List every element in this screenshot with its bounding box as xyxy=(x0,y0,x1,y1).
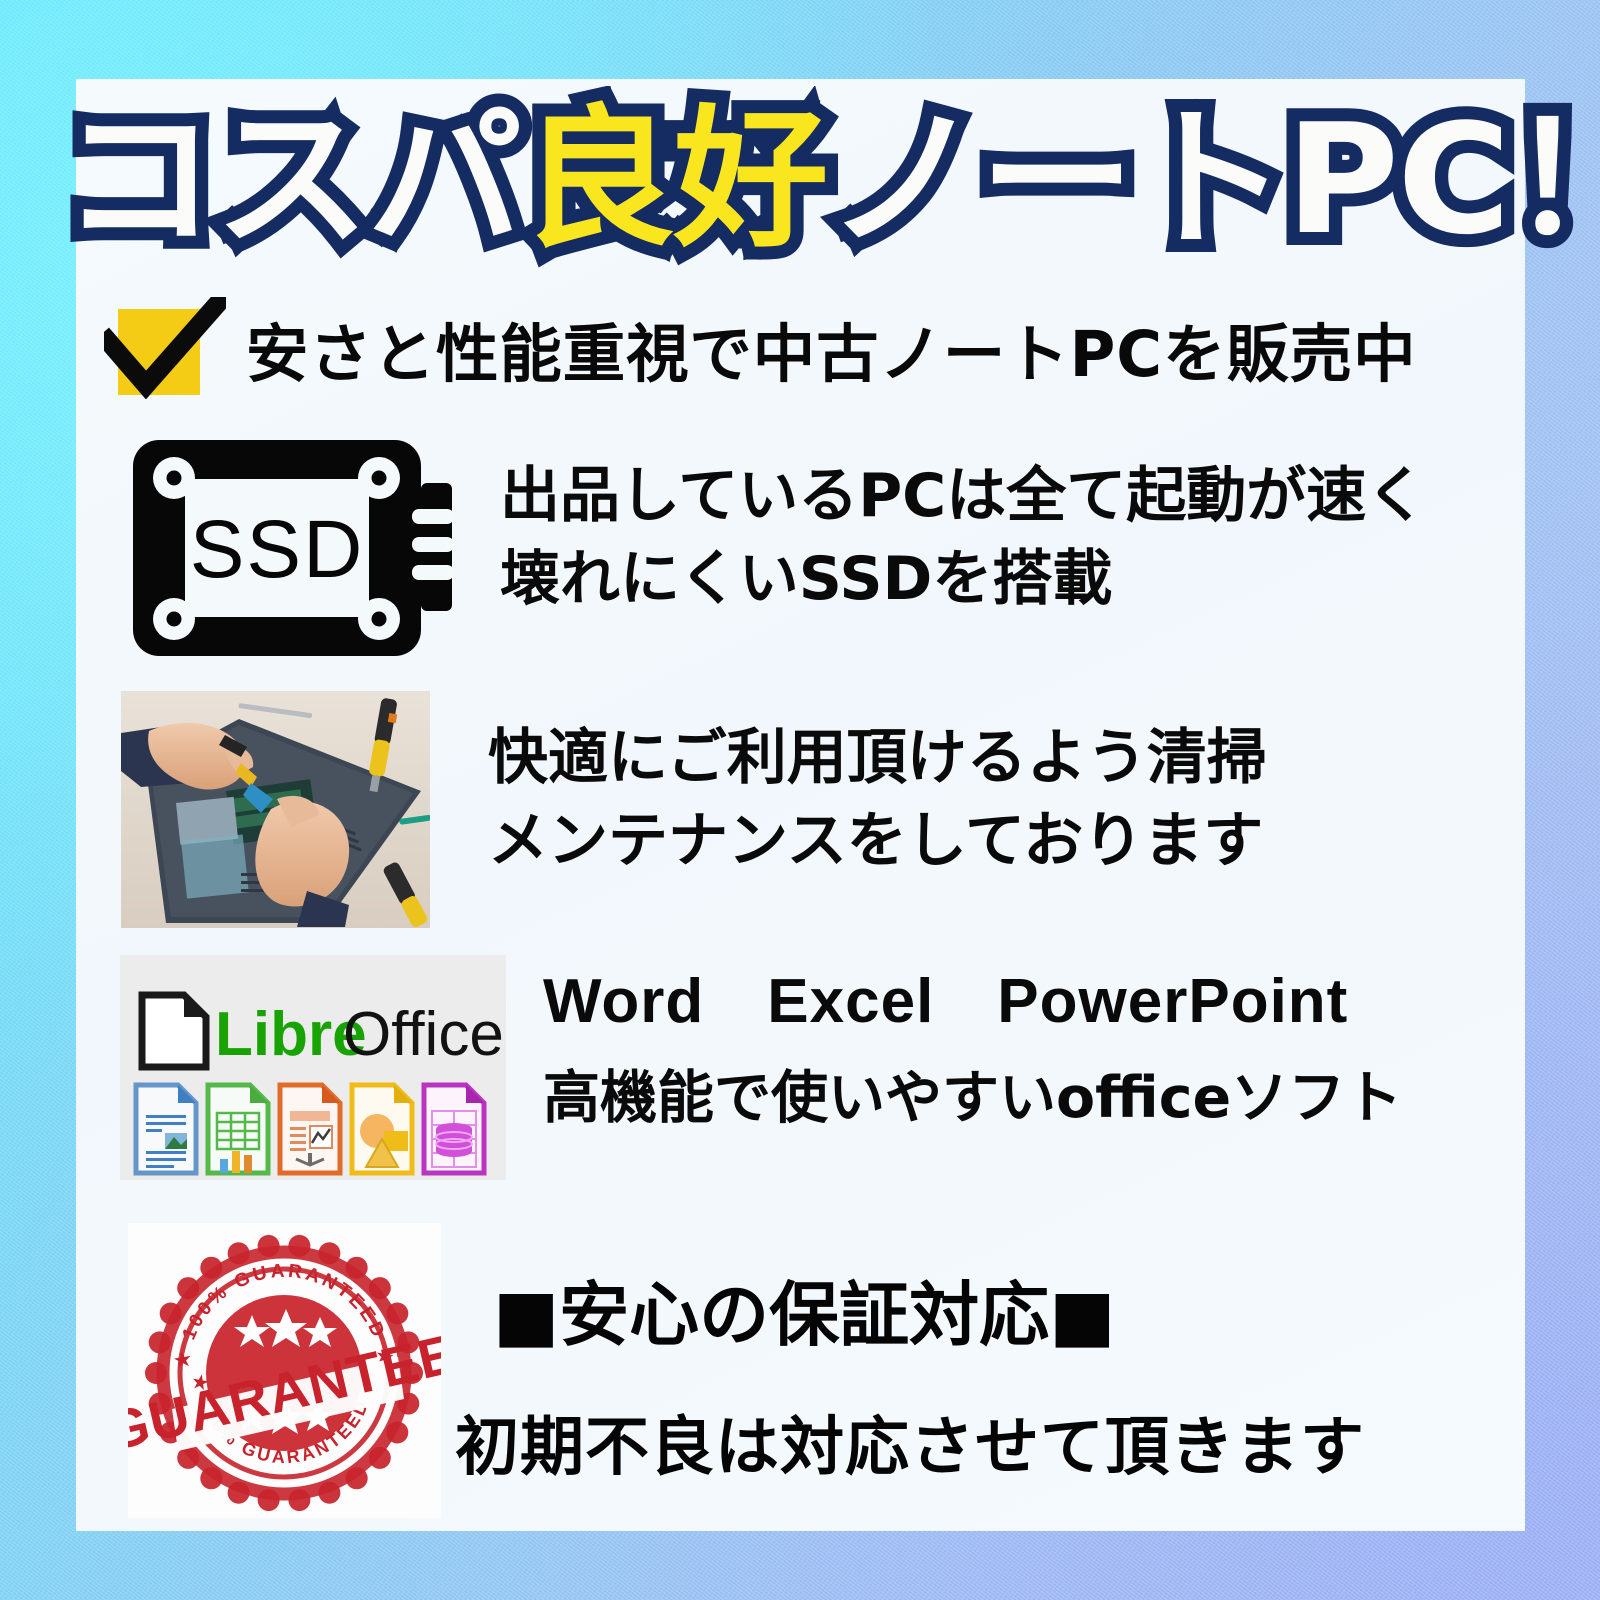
guarantee-stamp: ★ 100% GUARANTEED ★ ★ 100% GUARANTEED ★ … xyxy=(128,1223,441,1518)
yellow-check-icon xyxy=(104,301,226,397)
ssd-text-line1: 出品しているPCは全て起動が速く xyxy=(500,455,1426,538)
page-title: コスパ良好ノートPC！ xyxy=(62,93,1540,268)
feature-row-ssd: SSD 出品しているPCは全て起動が速く 壊れにくいSSDを搭載 xyxy=(130,435,1530,659)
title-segment-3: ノートPC！ xyxy=(827,91,1600,268)
feature-row-sales: 安さと性能重視で中古ノートPCを販売中 xyxy=(104,301,1504,397)
office-apps-line: Word Excel PowerPoint xyxy=(543,963,1402,1041)
libreoffice-logo: Libre Office xyxy=(120,955,506,1180)
title-segment-1: コスパ xyxy=(62,91,521,268)
ssd-icon-label: SSD xyxy=(190,504,365,595)
ssd-drive-icon: SSD xyxy=(130,437,455,659)
office-text: Word Excel PowerPoint 高機能で使いやすいofficeソフト xyxy=(543,963,1402,1135)
feature-row-office: Libre Office xyxy=(120,951,1520,1180)
ssd-text: 出品しているPCは全て起動が速く 壊れにくいSSDを搭載 xyxy=(500,455,1426,621)
feature-row-guarantee: ★ 100% GUARANTEED ★ ★ 100% GUARANTEED ★ … xyxy=(128,1219,1528,1518)
guarantee-text: ■安心の保証対応■ 初期不良は対応させて頂きます xyxy=(493,1259,1365,1488)
office-word: Office xyxy=(343,1000,504,1069)
laptop-repair-photo xyxy=(121,691,430,928)
ssd-text-line2: 壊れにくいSSDを搭載 xyxy=(500,538,1426,621)
checkmark-glyph xyxy=(104,297,226,399)
sales-text: 安さと性能重視で中古ノートPCを販売中 xyxy=(246,304,1417,395)
maintenance-text: 快適にご利用頂けるよう清掃 メンテナンスをしております xyxy=(488,717,1267,883)
maintenance-text-line2: メンテナンスをしております xyxy=(488,800,1267,883)
libreoffice-app-icons xyxy=(136,1085,484,1173)
office-description: 高機能で使いやすいofficeソフト xyxy=(543,1061,1402,1135)
guarantee-subtext: 初期不良は対応させて頂きます xyxy=(455,1396,1365,1488)
guarantee-heading: ■安心の保証対応■ xyxy=(493,1259,1365,1360)
maintenance-text-line1: 快適にご利用頂けるよう清掃 xyxy=(488,717,1267,800)
libreoffice-doc-glyph xyxy=(142,995,206,1067)
flyer-card: コスパ良好ノートPC！ 安さと性能重視で中古ノートPCを販売中 xyxy=(76,79,1525,1531)
title-segment-2: 良好 xyxy=(521,91,827,268)
feature-row-maintenance: 快適にご利用頂けるよう清掃 メンテナンスをしております xyxy=(121,687,1521,928)
